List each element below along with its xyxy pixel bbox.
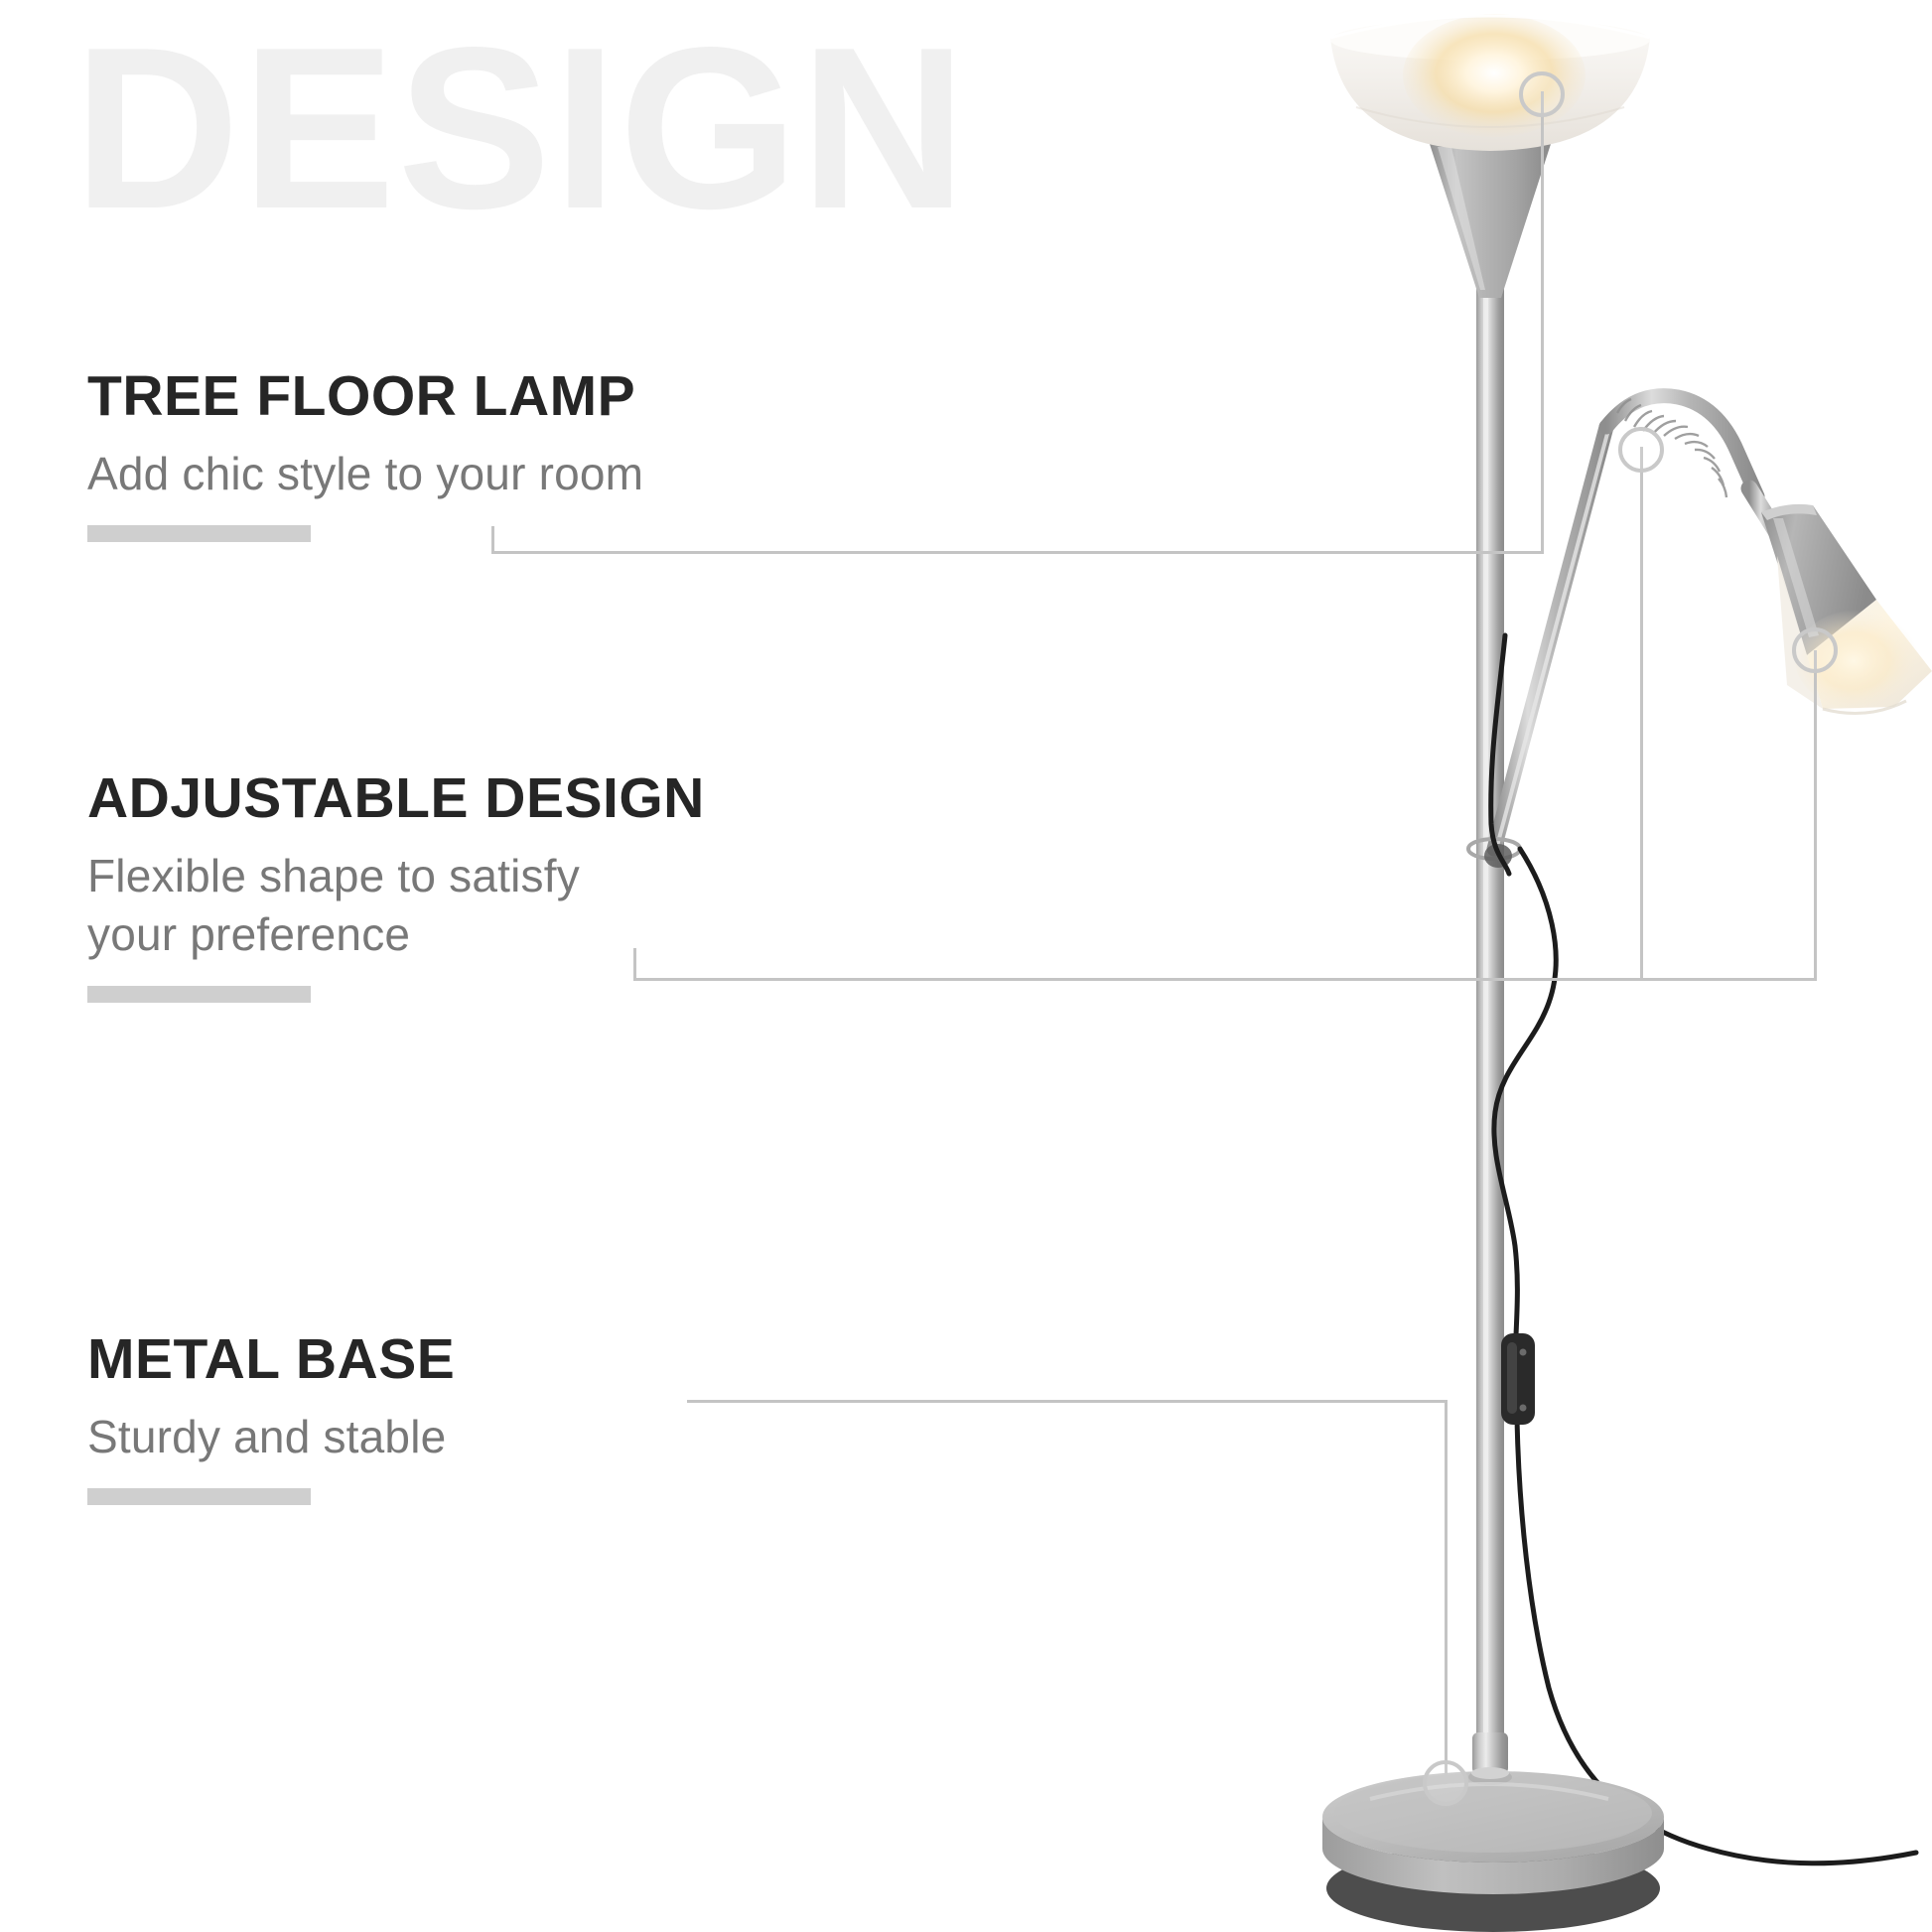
feature-subtitle: Sturdy and stable <box>87 1408 842 1466</box>
shade-cone-mount <box>1430 144 1551 298</box>
feature-accent-bar <box>87 1488 311 1505</box>
reading-lamp-cone-shade <box>1761 504 1932 714</box>
upper-bowl-shade <box>1330 14 1650 151</box>
feature-block-adjustable-design: ADJUSTABLE DESIGN Flexible shape to sati… <box>87 769 842 1003</box>
inline-switch <box>1501 1333 1535 1425</box>
round-metal-base <box>1322 1767 1664 1932</box>
top-shade-marker <box>1519 71 1565 117</box>
gooseneck-marker <box>1618 427 1664 473</box>
feature-accent-bar <box>87 525 311 542</box>
feature-subtitle: Add chic style to your room <box>87 445 842 503</box>
feature-subtitle: Flexible shape to satisfy your preferenc… <box>87 847 842 964</box>
feature-block-metal-base: METAL BASE Sturdy and stable <box>87 1330 842 1505</box>
feature-accent-bar <box>87 986 311 1003</box>
upper-bulb-glow <box>1403 14 1586 137</box>
power-cord <box>1491 635 1916 1863</box>
feature-title: ADJUSTABLE DESIGN <box>87 769 842 829</box>
feature-block-tree-floor-lamp: TREE FLOOR LAMP Add chic style to your r… <box>87 367 842 542</box>
reading-lamp-marker <box>1792 627 1838 673</box>
infographic-canvas: DESIGN <box>0 0 1932 1932</box>
feature-title: TREE FLOOR LAMP <box>87 367 842 427</box>
base-marker <box>1423 1760 1468 1806</box>
feature-title: METAL BASE <box>87 1330 842 1390</box>
